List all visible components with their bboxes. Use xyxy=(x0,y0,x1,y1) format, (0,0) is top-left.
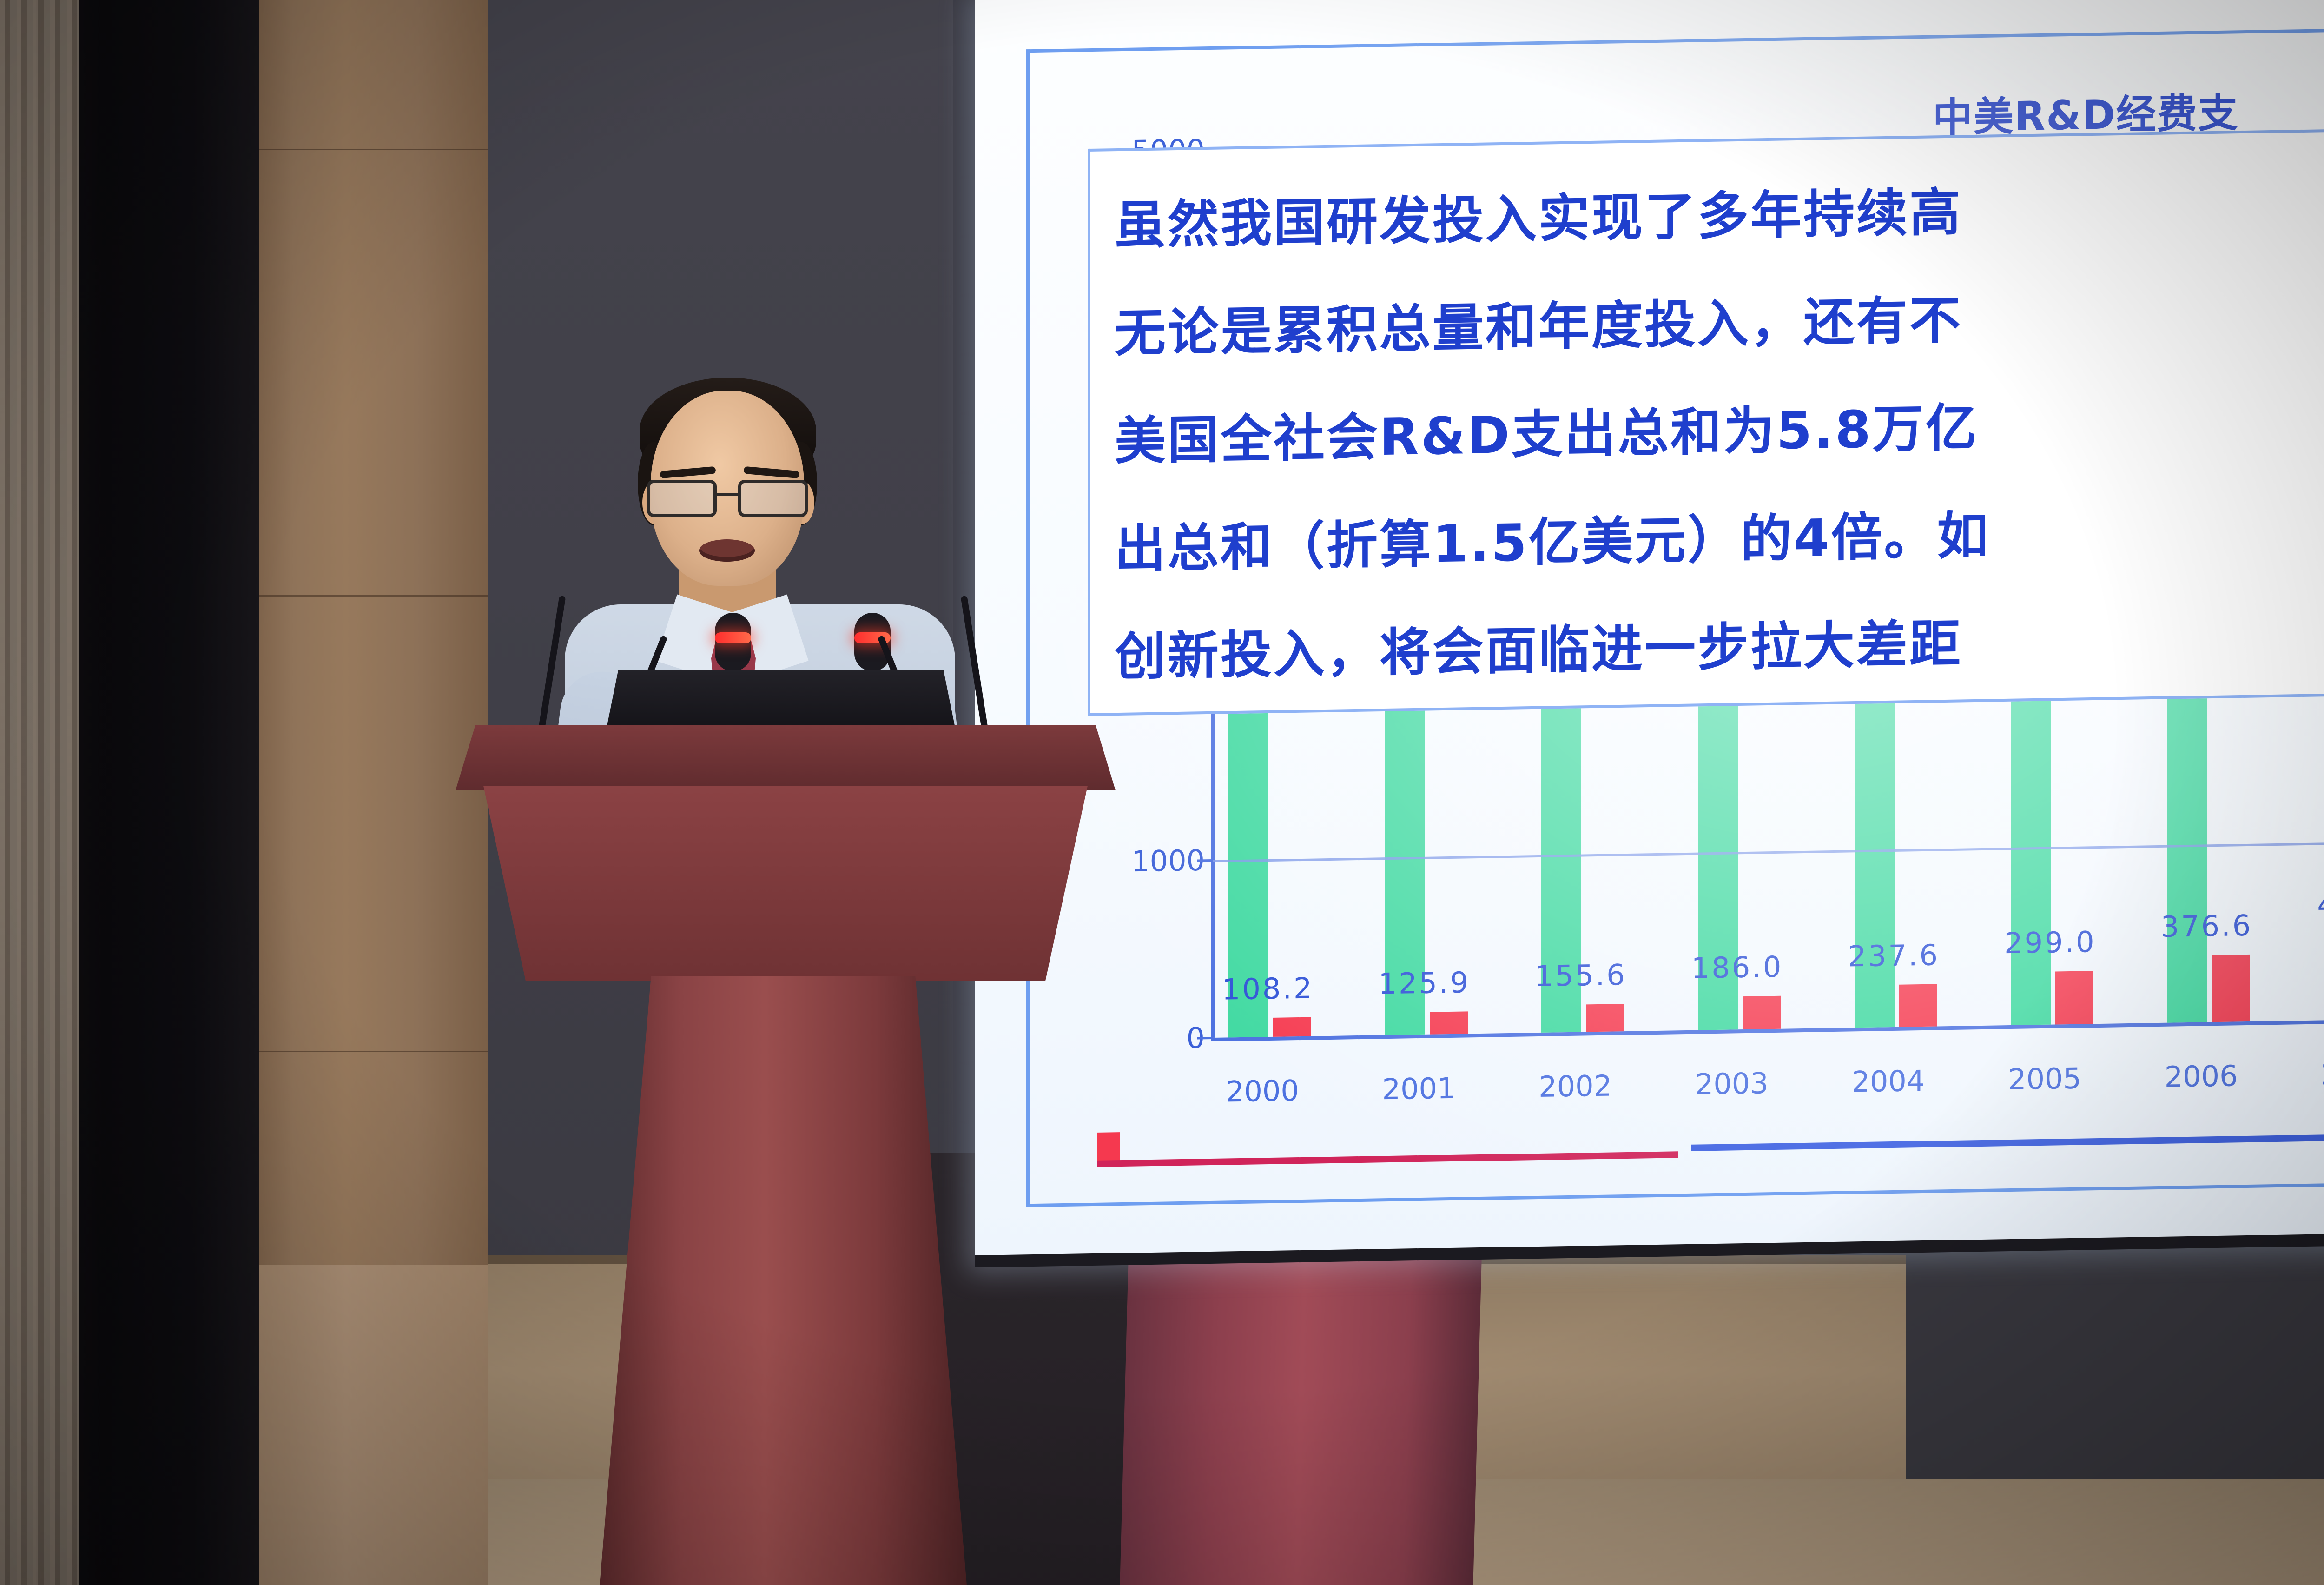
glasses-bridge xyxy=(717,493,739,496)
x-axis-tick-label: 2001 xyxy=(1382,1071,1456,1106)
bar-china-rd xyxy=(1743,996,1781,1029)
bar-china-rd xyxy=(1586,1004,1624,1032)
podium-top xyxy=(456,725,1116,790)
red-curtain xyxy=(1120,1218,1483,1585)
textbox-line: 创新投入，将会面临进一步拉大差距 xyxy=(1115,602,1962,690)
x-axis-tick-label: 2004 xyxy=(1852,1064,1925,1099)
textbox-line: 虽然我国研发投入实现了多年持续高 xyxy=(1115,170,1962,258)
wood-wall-lower xyxy=(251,1265,488,1585)
bar-china-rd xyxy=(1899,984,1937,1027)
presentation-photo: 中美R&D经费支 500040003000200010000 108.2125.… xyxy=(0,0,2324,1585)
textbox-line: 出总和（折算1.5亿美元）的4倍。如 xyxy=(1115,494,1990,582)
bar-data-label: 237.6 xyxy=(1848,938,1940,974)
bar-china-rd xyxy=(2212,955,2250,1022)
x-axis-tick-label: 2003 xyxy=(1695,1066,1769,1101)
x-axis-tick-label: 2000 xyxy=(1226,1074,1299,1108)
y-axis-tick-label: 1000 xyxy=(1131,843,1205,878)
podium-body xyxy=(483,786,1088,981)
y-axis-tick xyxy=(1197,859,1213,862)
x-axis-tick-label: 2002 xyxy=(1538,1068,1612,1103)
bar-china-rd xyxy=(2055,971,2093,1024)
bar-data-label: 299.0 xyxy=(2004,925,2096,960)
bar-data-label: 487.7 xyxy=(2317,886,2324,922)
bar-data-label: 108.2 xyxy=(1222,971,1314,1006)
mouth xyxy=(699,539,755,562)
podium-column xyxy=(600,976,967,1585)
textbox-line: 无论是累积总量和年度投入，还有不 xyxy=(1115,278,1962,366)
bar-china-rd xyxy=(1273,1017,1311,1037)
slide-textbox-overlay: 虽然我国研发投入实现了多年持续高无论是累积总量和年度投入，还有不美国全社会R&D… xyxy=(1088,128,2324,716)
bar-data-label: 125.9 xyxy=(1379,965,1471,1001)
bar-china-rd xyxy=(1430,1011,1468,1034)
bar-data-label: 155.6 xyxy=(1535,958,1627,993)
lens-right xyxy=(738,480,808,517)
stage-curtain xyxy=(0,0,79,1585)
mic-led-left xyxy=(715,632,751,643)
eyeglasses xyxy=(645,477,811,522)
x-axis-tick-label: 2007 xyxy=(2321,1056,2324,1091)
bar-data-label: 376.6 xyxy=(2161,909,2253,944)
x-axis-tick-label: 2005 xyxy=(2008,1061,2081,1096)
bar-data-label: 186.0 xyxy=(1691,950,1783,985)
lens-left xyxy=(647,480,717,517)
x-axis-tick-label: 2006 xyxy=(2165,1059,2238,1094)
textbox-line: 美国全社会R&D支出总和为5.8万亿 xyxy=(1115,386,1979,474)
y-axis-tick xyxy=(1197,1037,1213,1040)
podium xyxy=(456,725,1116,1585)
